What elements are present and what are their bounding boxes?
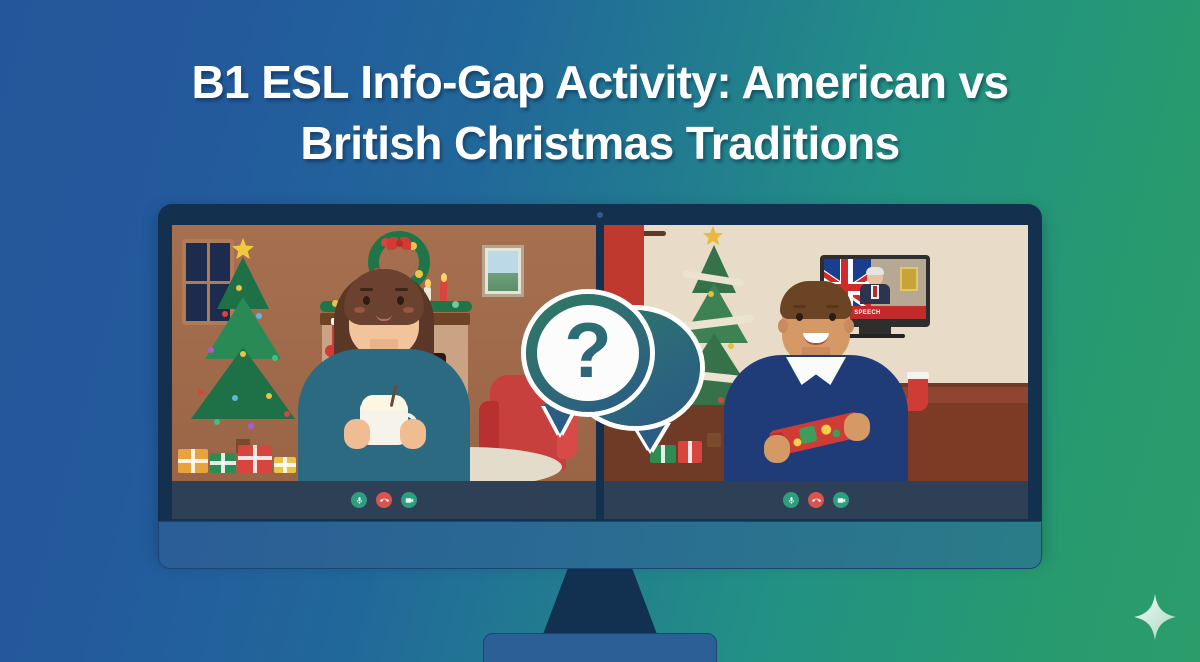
question-mark-icon: ? <box>526 294 650 412</box>
speech-bubble-front: ? <box>526 294 650 412</box>
avatar-brow <box>395 288 408 291</box>
avatar-brow <box>360 288 373 291</box>
avatar-brow <box>793 305 806 308</box>
candle-icon <box>440 281 447 301</box>
gift-box <box>178 449 208 473</box>
avatar-hand <box>764 435 790 463</box>
avatar-hand <box>344 419 370 449</box>
whipped-cream <box>361 395 407 411</box>
webcam-dot <box>597 212 603 218</box>
tv-wall-picture <box>900 267 918 291</box>
avatar-ear <box>844 319 854 333</box>
gift-box <box>238 445 272 473</box>
avatar-ear <box>778 319 788 333</box>
monitor-stand <box>158 500 1042 662</box>
avatar-cheek <box>354 307 365 313</box>
gift-box <box>210 453 236 473</box>
avatar-brow <box>826 305 839 308</box>
picture-frame <box>482 245 524 297</box>
avatar-hand <box>400 419 426 449</box>
tv-foot <box>845 334 905 338</box>
question-speech-bubbles: ? <box>522 288 702 468</box>
page-title-line-1: B1 ESL Info-Gap Activity: American vs <box>0 52 1200 113</box>
stocking-icon <box>908 377 928 411</box>
page-title: B1 ESL Info-Gap Activity: American vs Br… <box>0 52 1200 173</box>
monitor-chin <box>158 521 1042 569</box>
sparkle-icon <box>1134 594 1176 640</box>
avatar-eye <box>397 296 404 305</box>
avatar-eye <box>796 313 803 321</box>
avatar-hand <box>844 413 870 441</box>
page-title-line-2: British Christmas Traditions <box>0 113 1200 174</box>
monitor-base <box>483 633 717 662</box>
king-figure <box>859 269 891 303</box>
bow-icon <box>387 235 411 251</box>
avatar-cheek <box>403 307 414 313</box>
avatar-eye <box>363 296 370 305</box>
christmas-tree <box>188 251 298 441</box>
avatar-hair <box>780 281 852 319</box>
monitor-neck <box>542 569 658 637</box>
gift-box <box>274 457 296 473</box>
avatar-eye <box>829 313 836 321</box>
